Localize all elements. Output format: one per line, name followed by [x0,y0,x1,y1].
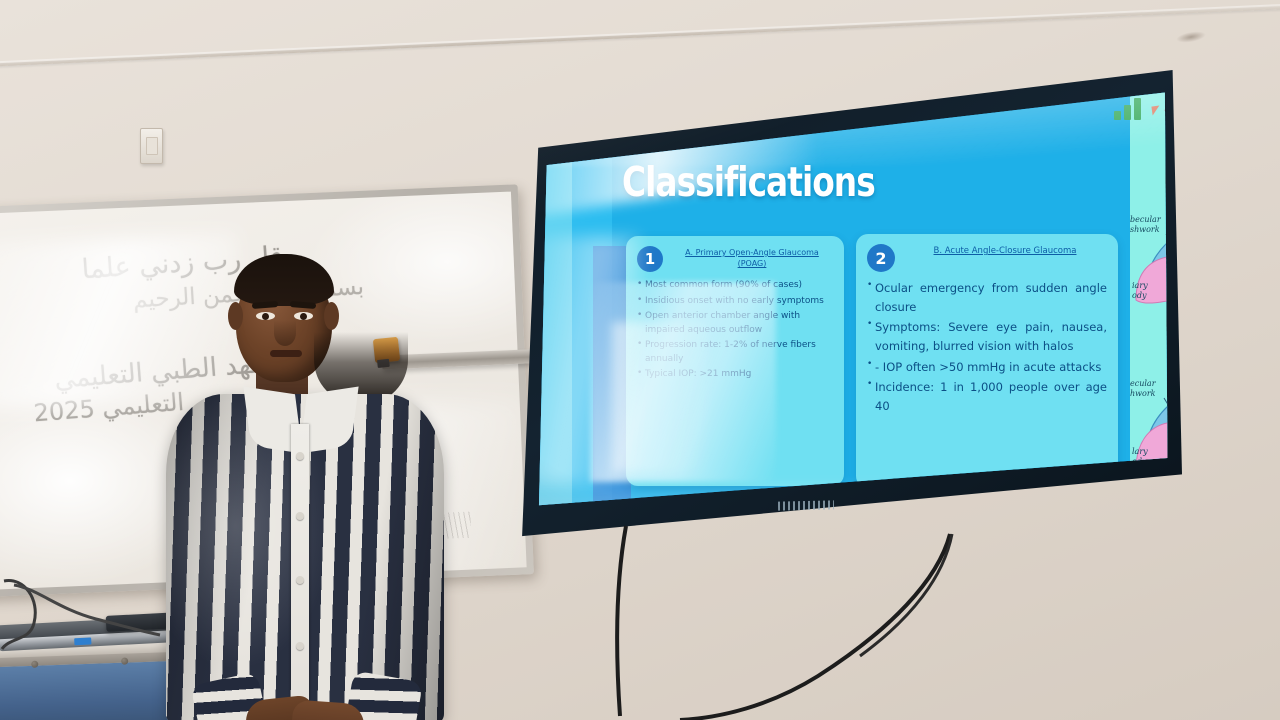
light-switch-plate[interactable] [140,128,163,164]
bar-chart-icon [1114,94,1148,120]
title-flag-icon [1151,105,1160,115]
open-angle-eye-illustration: Cornea becular shwork Trabe mesh Open an… [1130,160,1170,310]
list-item: Ocular emergency from sudden angle closu… [867,279,1107,316]
presenter [160,246,450,720]
diagram-heading: Angle-closure Glaucoma [1130,308,1170,324]
presenter-eye-left [256,312,275,320]
label-ciliary-left: iary [1132,281,1148,290]
shirt-button [296,512,304,520]
label-trabecular-left: becular [1130,215,1162,224]
shirt-button [296,576,304,584]
card-title: A. Primary Open-Angle Glaucoma (POAG) [671,246,833,270]
card-bullet-list: Ocular emergency from sudden angle closu… [867,279,1107,415]
list-item: Most common form (90% of cases) [637,279,833,293]
label-trabecular-left: ecular [1130,379,1157,388]
classroom-scene: وقل رب زدني علما بسم الله الرحمن الرحيم … [0,0,1280,720]
list-item: Open anterior chamber angle with impaire… [637,310,833,337]
label-body-left: ody [1132,291,1147,300]
diagram-open-angle: Open-angle Glaucoma [1130,140,1170,310]
card-bullet-list: Most common form (90% of cases) Insidiou… [637,279,833,382]
card-title: B. Acute Angle-Closure Glaucoma [903,244,1107,257]
card-number-badge: 1 [637,246,663,272]
presenter-eye-right [294,312,313,320]
classification-card-poag: 1 A. Primary Open-Angle Glaucoma (POAG) … [626,236,844,486]
diagram-heading: Open-angle Glaucoma [1130,140,1170,156]
card-header: 2 B. Acute Angle-Closure Glaucoma [867,244,1107,272]
list-item: Symptoms: Severe eye pain, nausea, vomit… [867,318,1107,355]
list-item: Progression rate: 1-2% of nerve fibers a… [637,339,833,366]
presenter-hair [234,254,334,306]
slide-title: Classifications [622,158,875,206]
card-number-badge: 2 [867,244,895,272]
list-item: Typical IOP: >21 mmHg [637,368,833,382]
label-meshwork-left: hwork [1130,389,1156,398]
presenter-nose [274,320,296,346]
presenter-ear-left [228,302,243,330]
classification-card-acute-angle-closure: 2 B. Acute Angle-Closure Glaucoma Ocular… [856,234,1118,488]
card-header: 1 A. Primary Open-Angle Glaucoma (POAG) [637,246,833,272]
list-item: Incidence: 1 in 1,000 people over age 40 [867,378,1107,415]
glaucoma-types-panel: Types of Glaucoma Open-angle Glaucoma [1130,86,1170,516]
label-meshwork-left: shwork [1130,225,1160,234]
wall-mounted-display[interactable]: Classifications 1 A. Primary Open-Angle … [510,70,1182,538]
tv-brand-logo [778,500,834,510]
presenter-ear-right [324,302,339,330]
shirt-button [296,452,304,460]
list-item: - IOP often >50 mmHg in acute attacks [867,358,1107,377]
label-ciliary-left: lary [1132,447,1148,456]
shirt-placket [291,424,309,720]
shirt-button [296,642,304,650]
presenter-mouth [270,350,302,357]
list-item: Insidious onset with no early symptoms [637,295,833,309]
